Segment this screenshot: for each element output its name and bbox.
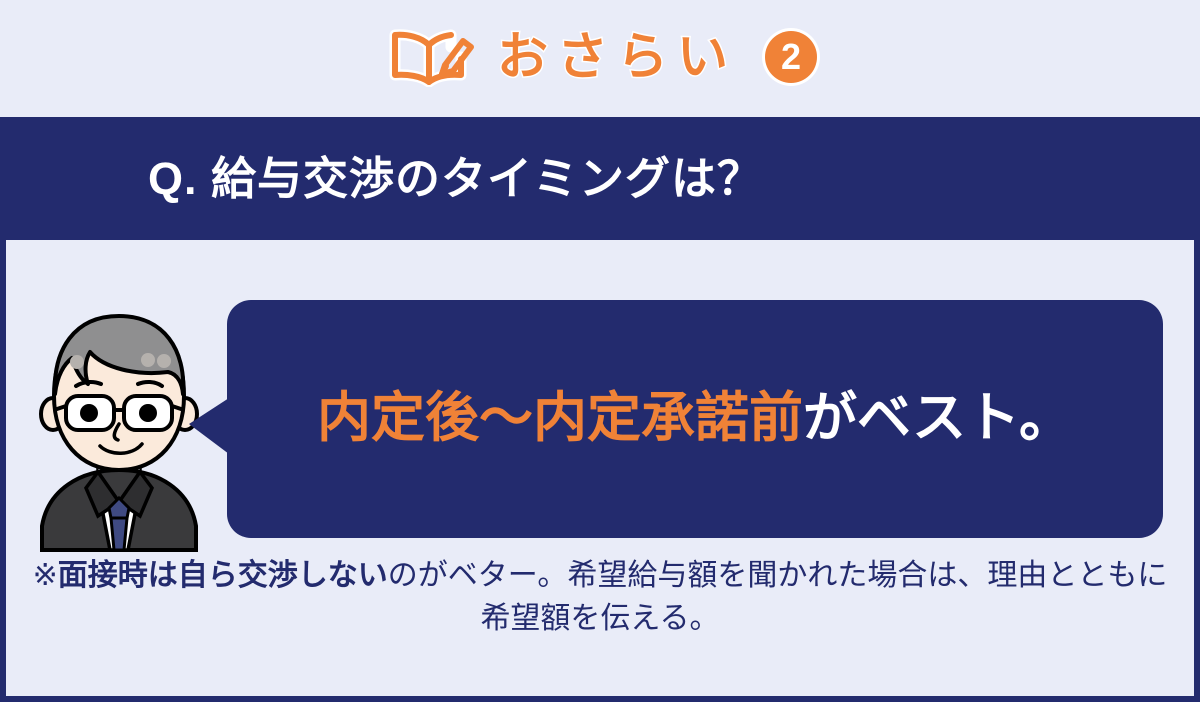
- answer-speech-bubble: 内定後〜内定承諾前がベスト。: [227, 300, 1163, 538]
- businessman-with-glasses-avatar: [28, 302, 210, 552]
- open-book-with-pencil-icon: [383, 27, 475, 87]
- header-inner: おさらい 2: [383, 27, 817, 87]
- question-text: Q. 給与交渉のタイミングは？: [148, 156, 763, 201]
- answer-plain: がベスト。: [803, 388, 1073, 448]
- footnote: ※面接時は自ら交渉しないのがベター。希望給与額を聞かれた場合は、理由とともに希望…: [6, 555, 1194, 640]
- answer-panel: 内定後〜内定承諾前がベスト。 ※面接時は自ら交渉しないのがベター。希望給与額を聞…: [0, 240, 1200, 702]
- answer-text: 内定後〜内定承諾前がベスト。: [317, 389, 1073, 448]
- footnote-bold: 面接時は自ら交渉しない: [58, 559, 388, 592]
- page-title: おさらい: [497, 31, 737, 82]
- speech-bubble-tail: [189, 398, 229, 454]
- footnote-rest: のがベター。希望給与額を聞かれた場合は、理由とともに希望額を伝える。: [388, 559, 1168, 635]
- footnote-mark: ※: [33, 559, 58, 592]
- section-number-badge: 2: [765, 31, 817, 83]
- slide-root: おさらい 2 Q. 給与交渉のタイミングは？: [0, 0, 1200, 702]
- answer-highlight: 内定後〜内定承諾前: [317, 388, 803, 448]
- header-band: おさらい 2: [0, 0, 1200, 117]
- question-band: Q. 給与交渉のタイミングは？: [0, 117, 1200, 240]
